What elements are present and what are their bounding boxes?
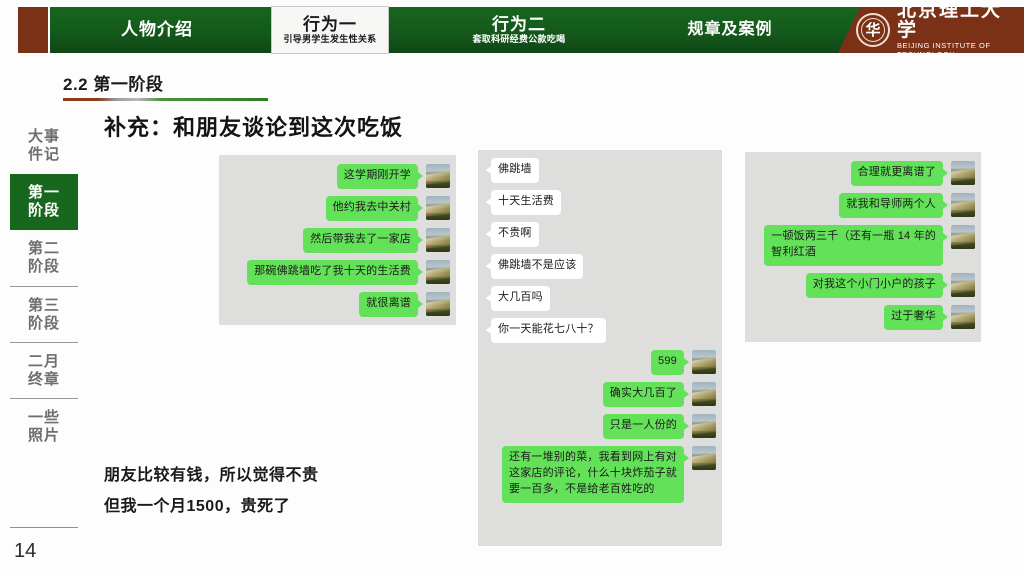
chat-message: 确实大几百了 bbox=[603, 382, 716, 407]
chat-bubble-outgoing: 这学期刚开学 bbox=[337, 164, 418, 189]
sidebar-item-line2: 阶段 bbox=[28, 258, 60, 276]
sidebar-item-dierjieduan[interactable]: 第二 阶段 bbox=[10, 230, 78, 286]
brand-text: 北京理工大学 BEIJING INSTITUTE OF TECHNOLOGY bbox=[897, 1, 1022, 60]
nav-tab-xingweier[interactable]: 行为二 套取科研经费公款吃喝 bbox=[434, 7, 604, 53]
chat-message: 佛跳墙不是应该 bbox=[484, 254, 583, 279]
sidebar-item-dashijianji[interactable]: 大事 件记 bbox=[10, 118, 78, 174]
chat-message: 他约我去中关村 bbox=[326, 196, 450, 221]
university-brand: 华 北京理工大学 BEIJING INSTITUTE OF TECHNOLOGY bbox=[856, 10, 1022, 50]
chat-avatar bbox=[426, 164, 450, 188]
chat-message: 合理就更离谱了 bbox=[851, 161, 975, 186]
chat-bubble-outgoing: 还有一堆别的菜，我看到网上有对 这家店的评论，什么十块炸茄子就 要一百多，不是给… bbox=[502, 446, 684, 503]
nav-tab-label: 行为一 bbox=[303, 16, 357, 33]
chat-bubble-outgoing: 599 bbox=[651, 350, 684, 375]
slide-header: 人物介绍 行为一 引导男学生发生性关系 行为二 套取科研经费公款吃喝 规章及案例… bbox=[0, 0, 1024, 60]
nav-tab-label: 行为二 bbox=[492, 16, 546, 33]
chat-bubble-outgoing: 就我和导师两个人 bbox=[839, 193, 943, 218]
chat-bubble-incoming: 不贵啊 bbox=[491, 222, 539, 247]
nav-tab-label: 规章及案例 bbox=[687, 22, 772, 38]
sidebar-item-eryuezhongzhang[interactable]: 二月 终章 bbox=[10, 342, 78, 398]
chat-message: 这学期刚开学 bbox=[337, 164, 450, 189]
chat-message: 对我这个小门小户的孩子 bbox=[806, 273, 975, 298]
brand-name-cn: 北京理工大学 bbox=[897, 1, 1022, 41]
university-seal-icon: 华 bbox=[856, 13, 890, 47]
sidebar-item-line2: 件记 bbox=[28, 146, 60, 164]
chat-message: 一顿饭两三千（还有一瓶 14 年的 智利红酒 bbox=[764, 225, 975, 266]
chat-avatar bbox=[426, 228, 450, 252]
chat-message: 就很离谱 bbox=[359, 292, 450, 317]
sidebar-item-line1: 第三 bbox=[28, 297, 60, 315]
chat-avatar bbox=[951, 273, 975, 297]
chat-avatar bbox=[692, 382, 716, 406]
chat-avatar bbox=[426, 196, 450, 220]
chat-panel-left: 这学期刚开学他约我去中关村然后带我去了一家店那碗佛跳墙吃了我十天的生活费就很离谱 bbox=[219, 155, 456, 325]
seal-character: 华 bbox=[865, 23, 880, 38]
chat-message: 然后带我去了一家店 bbox=[303, 228, 450, 253]
sidebar-item-line1: 二月 bbox=[28, 353, 60, 371]
chat-bubble-outgoing: 然后带我去了一家店 bbox=[303, 228, 418, 253]
chat-message: 十天生活费 bbox=[484, 190, 561, 215]
nav-tab-renwujieshao[interactable]: 人物介绍 bbox=[62, 7, 252, 53]
chat-bubble-outgoing: 合理就更离谱了 bbox=[851, 161, 943, 186]
bottom-note-line-1: 朋友比较有钱，所以觉得不贵 bbox=[104, 460, 319, 491]
chat-bubble-outgoing: 他约我去中关村 bbox=[326, 196, 418, 221]
brand-name-en: BEIJING INSTITUTE OF TECHNOLOGY bbox=[897, 41, 1022, 59]
chat-message: 不贵啊 bbox=[484, 222, 539, 247]
header-brown-accent bbox=[18, 7, 48, 53]
chat-bubble-outgoing: 过于奢华 bbox=[884, 305, 943, 330]
chat-message: 那碗佛跳墙吃了我十天的生活费 bbox=[247, 260, 450, 285]
bottom-note: 朋友比较有钱，所以觉得不贵 但我一个月1500，贵死了 bbox=[104, 460, 319, 522]
bottom-note-line-2: 但我一个月1500，贵死了 bbox=[104, 491, 319, 522]
sidebar-item-line2: 阶段 bbox=[28, 202, 60, 220]
chat-message: 大几百吗 bbox=[484, 286, 550, 311]
sidebar-item-yixiezhaopian[interactable]: 一些 照片 bbox=[10, 398, 78, 454]
chat-message: 599 bbox=[651, 350, 716, 375]
chat-avatar bbox=[692, 414, 716, 438]
chat-message: 佛跳墙 bbox=[484, 158, 539, 183]
chat-avatar bbox=[426, 260, 450, 284]
sidebar-item-diyijieduan[interactable]: 第一 阶段 bbox=[10, 174, 78, 230]
chat-message: 你一天能花七八十？ bbox=[484, 318, 606, 343]
nav-tab-xingweiyi[interactable]: 行为一 引导男学生发生性关系 bbox=[271, 6, 389, 54]
chat-avatar bbox=[426, 292, 450, 316]
section-title-text: 2.2 第一阶段 bbox=[63, 70, 268, 95]
chat-bubble-incoming: 十天生活费 bbox=[491, 190, 561, 215]
chat-bubble-outgoing: 只是一人份的 bbox=[603, 414, 684, 439]
sidebar-item-line1: 第一 bbox=[28, 184, 60, 202]
chat-bubble-outgoing: 就很离谱 bbox=[359, 292, 418, 317]
chat-avatar bbox=[951, 193, 975, 217]
chat-bubble-outgoing: 确实大几百了 bbox=[603, 382, 684, 407]
chat-avatar bbox=[692, 350, 716, 374]
chat-message: 只是一人份的 bbox=[603, 414, 716, 439]
chat-panel-right: 合理就更离谱了就我和导师两个人一顿饭两三千（还有一瓶 14 年的 智利红酒对我这… bbox=[745, 152, 981, 342]
sidebar-item-line1: 一些 bbox=[28, 409, 60, 427]
chat-bubble-incoming: 佛跳墙不是应该 bbox=[491, 254, 583, 279]
slide-canvas: 人物介绍 行为一 引导男学生发生性关系 行为二 套取科研经费公款吃喝 规章及案例… bbox=[0, 0, 1024, 576]
chat-bubble-incoming: 你一天能花七八十？ bbox=[491, 318, 606, 343]
sidebar-item-line2: 终章 bbox=[28, 371, 60, 389]
sidebar-item-line1: 第二 bbox=[28, 240, 60, 258]
sidebar-item-line2: 照片 bbox=[28, 427, 60, 445]
chat-message: 还有一堆别的菜，我看到网上有对 这家店的评论，什么十块炸茄子就 要一百多，不是给… bbox=[502, 446, 716, 503]
nav-tab-label: 人物介绍 bbox=[121, 21, 193, 38]
chat-avatar bbox=[951, 305, 975, 329]
chat-message: 就我和导师两个人 bbox=[839, 193, 975, 218]
chat-avatar bbox=[692, 446, 716, 470]
chat-panel-middle: 佛跳墙十天生活费不贵啊佛跳墙不是应该大几百吗你一天能花七八十？599确实大几百了… bbox=[478, 150, 722, 546]
chat-bubble-incoming: 佛跳墙 bbox=[491, 158, 539, 183]
chat-bubble-outgoing: 那碗佛跳墙吃了我十天的生活费 bbox=[247, 260, 418, 285]
chat-bubble-outgoing: 一顿饭两三千（还有一瓶 14 年的 智利红酒 bbox=[764, 225, 943, 266]
sidebar-item-line2: 阶段 bbox=[28, 315, 60, 333]
nav-tab-sublabel: 套取科研经费公款吃喝 bbox=[472, 35, 565, 44]
sidebar-item-line1: 大事 bbox=[28, 128, 60, 146]
section-title: 2.2 第一阶段 bbox=[63, 70, 268, 101]
nav-tab-guizhangjianli[interactable]: 规章及案例 bbox=[640, 7, 820, 53]
page-number-rule bbox=[10, 527, 78, 528]
chat-avatar bbox=[951, 161, 975, 185]
section-title-rule bbox=[63, 98, 268, 101]
chat-message: 过于奢华 bbox=[884, 305, 975, 330]
page-headline: 补充：和朋友谈论到这次吃饭 bbox=[104, 110, 403, 142]
chat-avatar bbox=[951, 225, 975, 249]
page-number: 14 bbox=[14, 540, 36, 563]
chat-bubble-outgoing: 对我这个小门小户的孩子 bbox=[806, 273, 943, 298]
stage-sidebar: 大事 件记 第一 阶段 第二 阶段 第三 阶段 二月 终章 一些 照片 bbox=[10, 118, 78, 454]
chat-bubble-incoming: 大几百吗 bbox=[491, 286, 550, 311]
sidebar-item-disanjieduan[interactable]: 第三 阶段 bbox=[10, 286, 78, 342]
nav-tab-sublabel: 引导男学生发生性关系 bbox=[283, 35, 376, 44]
